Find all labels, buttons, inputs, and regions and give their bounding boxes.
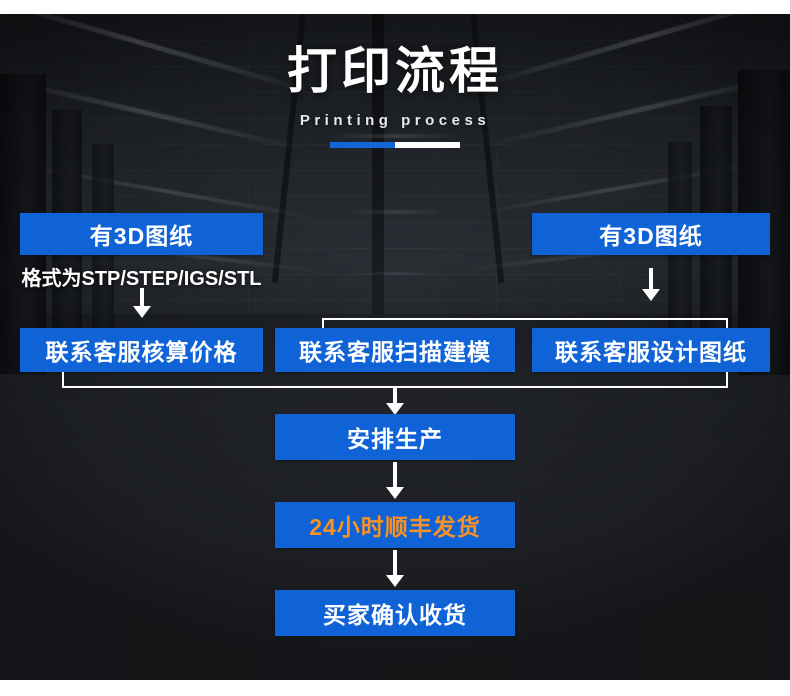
- printing-process-banner: 打印流程 Printing process 有3D图纸 有3D图纸 格式为STP…: [0, 0, 790, 696]
- process-flow-diagram: 有3D图纸 有3D图纸 格式为STP/STEP/IGS/STL 联系客服核算价格…: [0, 0, 790, 696]
- flow-box-contact-service-scan-model[interactable]: 联系客服扫描建模: [275, 328, 515, 372]
- flow-box-arrange-production[interactable]: 安排生产: [275, 414, 515, 460]
- arrow-down-to-confirm: [380, 550, 410, 588]
- flow-box-contact-service-design-drawing[interactable]: 联系客服设计图纸: [532, 328, 770, 372]
- arrow-down-left-top: [127, 288, 157, 318]
- flow-box-24h-sf-shipping[interactable]: 24小时顺丰发货: [275, 502, 515, 548]
- arrow-down-to-shipping: [380, 462, 410, 500]
- top-white-margin: [0, 0, 790, 14]
- flow-box-have-3d-drawing-right[interactable]: 有3D图纸: [532, 213, 770, 255]
- flow-box-have-3d-drawing-left[interactable]: 有3D图纸: [20, 213, 263, 255]
- flow-box-buyer-confirm-receipt[interactable]: 买家确认收货: [275, 590, 515, 636]
- arrow-down-right-top: [636, 268, 666, 302]
- flow-box-contact-service-quote[interactable]: 联系客服核算价格: [20, 328, 263, 372]
- bottom-white-margin: [0, 680, 790, 696]
- format-caption: 格式为STP/STEP/IGS/STL: [20, 262, 263, 291]
- arrow-down-to-production: [380, 386, 410, 415]
